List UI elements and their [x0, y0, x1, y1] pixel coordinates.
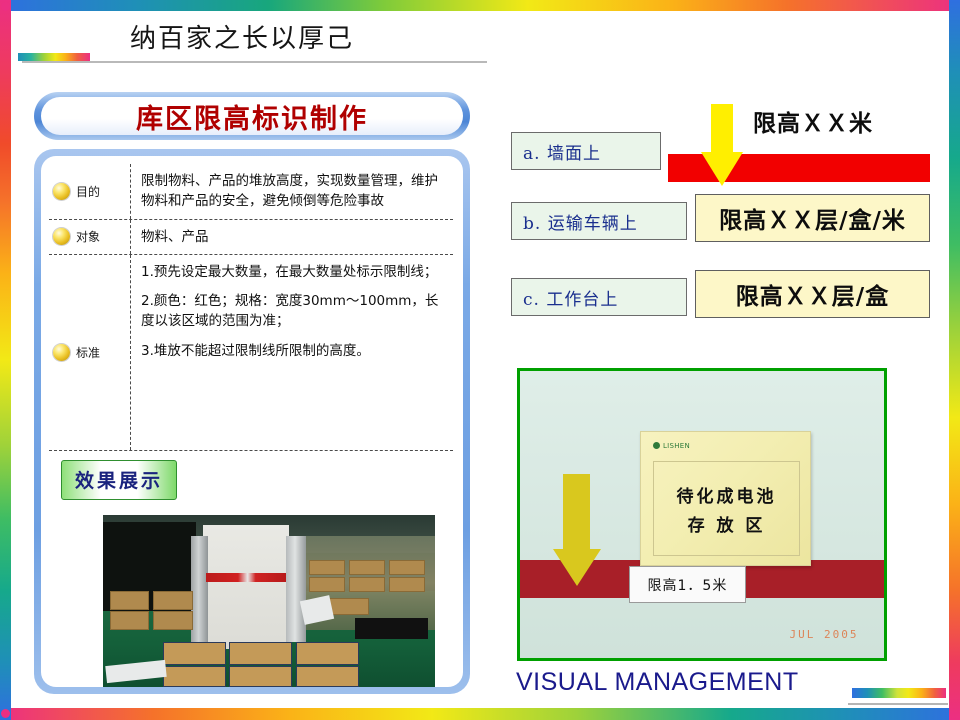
panel-body-inner: 目的 限制物料、产品的堆放高度，实现数量管理，维护物料和产品的安全，避免倾倒等危…	[41, 156, 463, 687]
table-row: 标准 1.预先设定最大数量，在最大数量处标示限制线； 2.颜色：红色；规格：宽度…	[49, 254, 453, 450]
row-content-line: 物料、产品	[141, 227, 447, 247]
row-label-text: 标准	[76, 344, 100, 361]
photo-carton	[389, 577, 426, 592]
arrow-head	[553, 549, 601, 586]
arrow-head	[701, 152, 743, 186]
photo-yellow-arrow-icon	[553, 474, 600, 612]
corner-dot-bottom-left	[1, 709, 10, 718]
logo-text: LISHEN	[663, 442, 690, 450]
rainbow-border-left	[0, 0, 11, 720]
section-label-text: c. 工作台上	[523, 285, 618, 310]
panel-title-bar: 库区限高标识制作	[34, 92, 470, 140]
row-content-line: 1.预先设定最大数量，在最大数量处标示限制线；	[141, 262, 447, 282]
photo-carton	[389, 560, 426, 575]
effect-display-label: 效果展示	[75, 470, 163, 492]
photo-placard-inner: 待化成电池 存 放 区	[653, 461, 800, 555]
section-label-workbench: c. 工作台上	[511, 278, 687, 316]
photo-placard: LISHEN 待化成电池 存 放 区	[640, 431, 811, 566]
panel-title-text: 库区限高标识制作	[136, 97, 368, 136]
arrow-stem	[711, 104, 733, 156]
header-divider	[22, 61, 487, 63]
bullet-sphere-icon	[53, 228, 70, 245]
wall-sign-text: 限高ＸＸ米	[753, 104, 873, 138]
footer-divider	[848, 703, 948, 705]
slide-canvas: 纳百家之长以厚己 库区限高标识制作 目的 限制物料、产品的堆放高度，实现数量管理…	[0, 0, 960, 720]
photo-pallet	[296, 666, 359, 687]
workbench-sign-text: 限高ＸＸ层/盒	[736, 277, 889, 311]
section-label-vehicle: b. 运输车辆上	[511, 202, 687, 240]
table-row: 对象 物料、产品	[49, 219, 453, 254]
photo-pallet	[163, 642, 226, 664]
visual-management-label: VISUAL MANAGEMENT	[516, 668, 799, 697]
section-label-text: b. 运输车辆上	[523, 209, 638, 234]
row-label-target: 对象	[49, 220, 131, 254]
photo-carton	[309, 560, 346, 575]
height-limit-sign-photo: LISHEN 待化成电池 存 放 区 限高1．5米 JUL 2005	[517, 368, 887, 661]
workbench-sign-box: 限高ＸＸ层/盒	[695, 270, 930, 318]
row-content-purpose: 限制物料、产品的堆放高度，实现数量管理，维护物料和产品的安全，避免倾倒等危险事故	[131, 164, 453, 219]
bullet-sphere-icon	[53, 183, 70, 200]
photo-carton	[329, 598, 369, 615]
row-label-standard: 标准	[49, 255, 131, 450]
logo-mark	[653, 442, 660, 449]
photo-white-wall	[203, 525, 289, 649]
warehouse-photo	[103, 515, 435, 687]
photo-carton	[153, 591, 193, 610]
photo-date-stamp: JUL 2005	[790, 628, 859, 641]
photo-carton	[349, 560, 386, 575]
vehicle-sign-box: 限高ＸＸ层/盒/米	[695, 194, 930, 242]
placard-line-1: 待化成电池	[676, 482, 776, 507]
section-label-text: a. 墙面上	[523, 139, 601, 164]
section-workbench: c. 工作台上 限高ＸＸ层/盒	[505, 264, 930, 340]
photo-carton	[349, 577, 386, 592]
photo-pallet	[296, 642, 359, 664]
row-label-text: 目的	[76, 183, 100, 200]
panel-body-frame: 目的 限制物料、产品的堆放高度，实现数量管理，维护物料和产品的安全，避免倾倒等危…	[34, 149, 470, 694]
lishen-logo-icon: LISHEN	[653, 442, 690, 450]
photo-pallet	[163, 666, 226, 687]
rainbow-border-top	[0, 0, 960, 11]
effect-display-badge: 效果展示	[61, 460, 177, 500]
corner-dot-top-left	[1, 2, 10, 11]
row-content-line: 3.堆放不能超过限制线所限制的高度。	[141, 341, 447, 361]
bullet-sphere-icon	[53, 344, 70, 361]
photo-pallet	[229, 666, 292, 687]
photo-limit-label: 限高1．5米	[629, 566, 745, 603]
photo-metal-pillar-right	[286, 536, 306, 643]
rainbow-border-bottom	[0, 708, 960, 720]
header-rainbow-accent	[18, 53, 90, 61]
panel-title-inner: 库区限高标识制作	[41, 97, 463, 135]
row-label-purpose: 目的	[49, 164, 131, 219]
photo-metal-pillar-left	[191, 536, 208, 643]
photo-red-height-limit-line	[206, 573, 286, 582]
photo-carton	[110, 611, 150, 630]
photo-carton	[153, 611, 193, 630]
down-arrow-icon	[701, 104, 743, 186]
rainbow-border-right	[949, 0, 960, 720]
section-wall: a. 墙面上 限高ＸＸ米	[505, 96, 930, 188]
slide-header-title: 纳百家之长以厚己	[130, 18, 354, 55]
footer-rainbow-accent	[852, 688, 946, 698]
left-content-panel: 库区限高标识制作 目的 限制物料、产品的堆放高度，实现数量管理，维护物料和产品的…	[34, 92, 470, 694]
photo-carton	[309, 577, 346, 592]
row-content-line: 限制物料、产品的堆放高度，实现数量管理，维护物料和产品的安全，避免倾倒等危险事故	[141, 171, 447, 212]
row-content-line: 2.颜色：红色；规格：宽度30mm～100mm，长度以该区域的范围为准；	[141, 291, 447, 332]
right-content-column: a. 墙面上 限高ＸＸ米 b. 运输车辆上 限高ＸＸ层/盒/米 c. 工作台上	[505, 96, 930, 340]
photo-limit-text: 限高1．5米	[648, 575, 728, 595]
section-label-wall: a. 墙面上	[511, 132, 661, 170]
row-content-target: 物料、产品	[131, 220, 453, 254]
row-label-text: 对象	[76, 228, 100, 245]
table-row: 目的 限制物料、产品的堆放高度，实现数量管理，维护物料和产品的安全，避免倾倒等危…	[49, 164, 453, 219]
vehicle-sign-text: 限高ＸＸ层/盒/米	[719, 201, 906, 235]
photo-pallet	[229, 642, 292, 664]
photo-dark-equipment	[355, 618, 428, 639]
photo-carton	[110, 591, 150, 610]
arrow-stem	[563, 474, 589, 554]
section-divider	[49, 450, 453, 451]
section-vehicle: b. 运输车辆上 限高ＸＸ层/盒/米	[505, 188, 930, 264]
placard-line-2: 存 放 区	[688, 511, 766, 536]
row-content-standard: 1.预先设定最大数量，在最大数量处标示限制线； 2.颜色：红色；规格：宽度30m…	[131, 255, 453, 450]
